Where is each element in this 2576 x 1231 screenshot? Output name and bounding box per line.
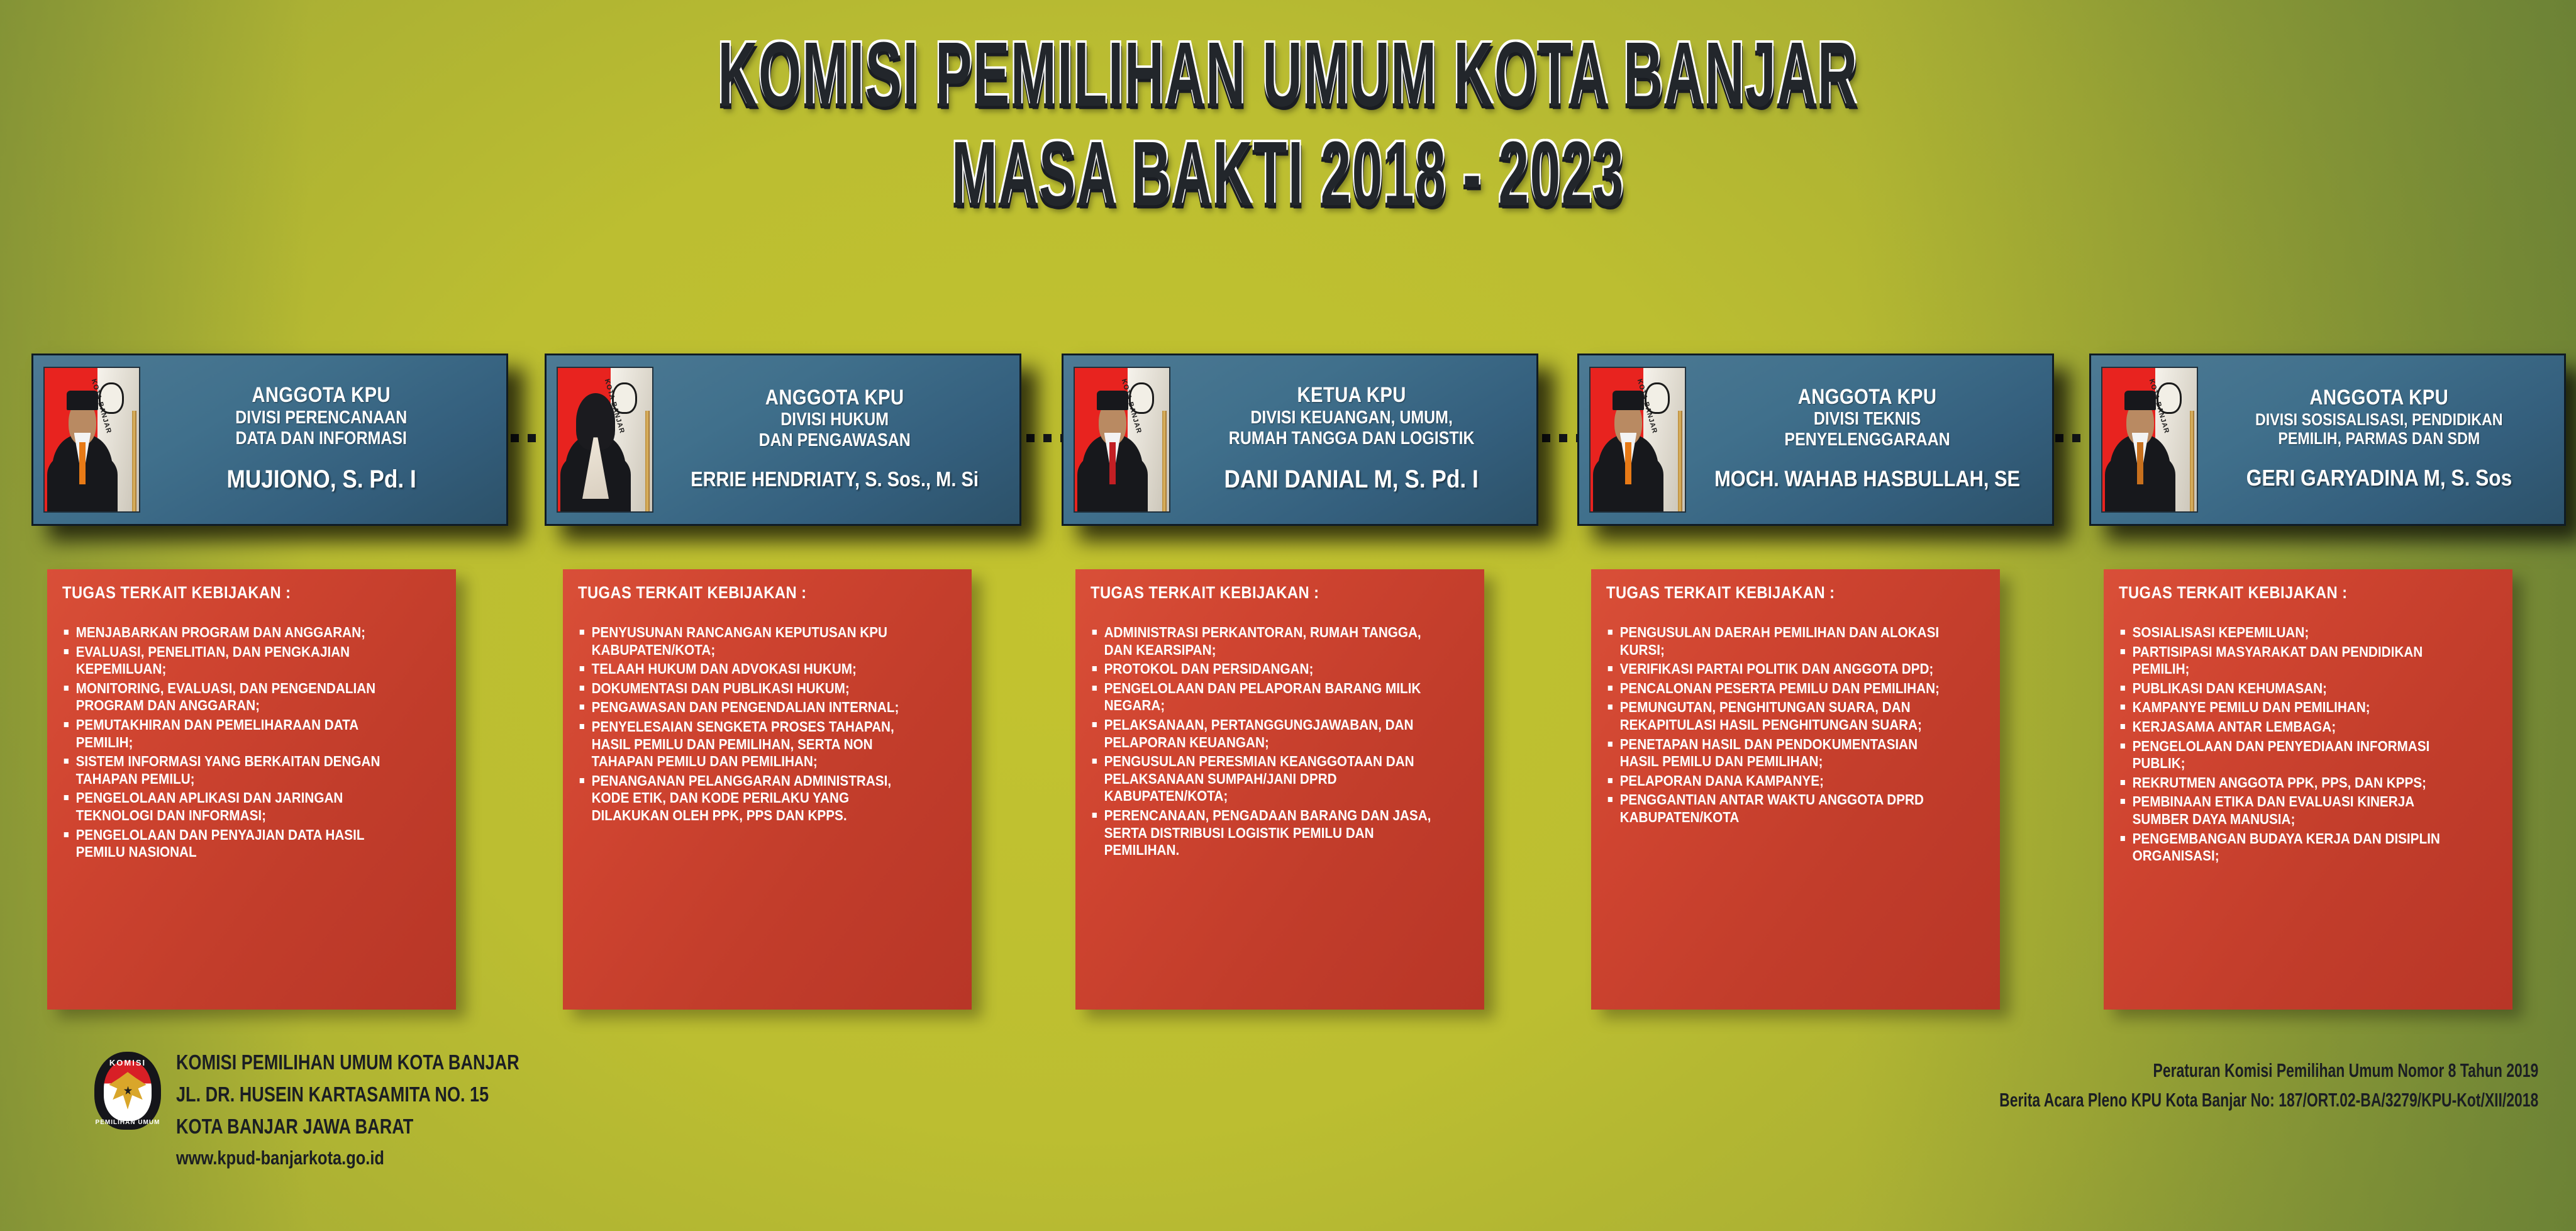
task-item: PENETAPAN HASIL DAN PENDOKUMENTASIAN HAS…	[1606, 736, 1949, 771]
member-photo: KOTA BANJAR	[2101, 367, 2198, 513]
task-item: PENANGANAN PELANGGARAN ADMINISTRASI, KOD…	[578, 772, 921, 825]
task-list: SOSIALISASI KEPEMILUAN; PARTISIPASI MASY…	[2119, 624, 2500, 865]
task-item: MONITORING, EVALUASI, DAN PENGENDALIAN P…	[62, 680, 405, 715]
task-item: SISTEM INFORMASI YANG BERKAITAN DENGAN T…	[62, 753, 405, 788]
footer-website-link[interactable]: www.kpud-banjarkota.go.id	[176, 1148, 519, 1167]
task-item: PENGEMBANGAN BUDAYA KERJA DAN DISIPLIN O…	[2119, 830, 2462, 865]
task-item: PENYUSUNAN RANCANGAN KEPUTUSAN KPU KABUP…	[578, 624, 921, 659]
footer-organization-block: KOMISI PEMILIHAN UMUM KOMISI PEMILIHAN U…	[94, 1052, 594, 1167]
task-item: PENGELOLAAN APLIKASI DAN JARINGAN TEKNOL…	[62, 789, 405, 824]
task-item: REKRUTMEN ANGGOTA PPK, PPS, DAN KPPS;	[2119, 774, 2462, 792]
task-item: TELAAH HUKUM DAN ADVOKASI HUKUM;	[578, 660, 921, 678]
member-card[interactable]: KOTA BANJAR KETUA KPU DIVISI KEUANGAN, U…	[1062, 354, 1538, 526]
task-item: PROTOKOL DAN PERSIDANGAN;	[1091, 660, 1433, 678]
task-item: ADMINISTRASI PERKANTORAN, RUMAH TANGGA, …	[1091, 624, 1433, 659]
task-box: TUGAS TERKAIT KEBIJAKAN : PENGUSULAN DAE…	[1591, 569, 2000, 1010]
task-item: KAMPANYE PEMILU DAN PEMILIHAN;	[2119, 699, 2462, 716]
member-name: DANI DANIAL M, S. Pd. I	[1224, 465, 1479, 494]
member-card[interactable]: KOTA BANJAR ANGGOTA KPU DIVISI TEKNIS PE…	[1577, 354, 2054, 526]
task-item: EVALUASI, PENELITIAN, DAN PENGKAJIAN KEP…	[62, 643, 405, 678]
member-name: MOCH. WAHAB HASBULLAH, SE	[1714, 467, 2020, 492]
task-item: PENCALONAN PESERTA PEMILU DAN PEMILIHAN;	[1606, 680, 1949, 698]
task-item: PENGUSULAN DAERAH PEMILIHAN DAN ALOKASI …	[1606, 624, 1949, 659]
member-name: ERRIE HENDRIATY, S. Sos., M. Si	[691, 467, 979, 491]
task-item: PARTISIPASI MASYARAKAT DAN PENDIDIKAN PE…	[2119, 643, 2462, 678]
task-list: PENYUSUNAN RANCANGAN KEPUTUSAN KPU KABUP…	[578, 624, 959, 825]
member-card[interactable]: KOTA BANJAR ANGGOTA KPU DIVISI SOSISALIS…	[2089, 354, 2566, 526]
page-subtitle: MASA BAKTI 2018 - 2023	[284, 128, 2293, 220]
task-box: TUGAS TERKAIT KEBIJAKAN : MENJABARKAN PR…	[47, 569, 456, 1010]
task-item: PENYELESAIAN SENGKETA PROSES TAHAPAN, HA…	[578, 718, 921, 771]
footer-address-line1: JL. DR. HUSEIN KARTASAMITA NO. 15	[176, 1084, 519, 1105]
member-card[interactable]: KOTA BANJAR ANGGOTA KPU DIVISI PERENCANA…	[31, 354, 508, 526]
task-box-title: TUGAS TERKAIT KEBIJAKAN :	[62, 583, 397, 603]
regulation-line-1: Peraturan Komisi Pemilihan Umum Nomor 8 …	[1999, 1061, 2538, 1081]
task-box: TUGAS TERKAIT KEBIJAKAN : SOSIALISASI KE…	[2104, 569, 2512, 1010]
task-item: PELAPORAN DANA KAMPANYE;	[1606, 772, 1949, 790]
task-item: PENGELOLAAN DAN PENYAJIAN DATA HASIL PEM…	[62, 827, 405, 861]
task-item: PENGELOLAAN DAN PENYEDIAAN INFORMASI PUB…	[2119, 738, 2462, 772]
footer-regulation-block: Peraturan Komisi Pemilihan Umum Nomor 8 …	[1810, 1061, 2538, 1119]
task-item: SOSIALISASI KEPEMILUAN;	[2119, 624, 2462, 642]
task-box-title: TUGAS TERKAIT KEBIJAKAN :	[1606, 583, 1941, 603]
member-role: ANGGOTA KPU DIVISI SOSISALISASI, PENDIDI…	[2255, 386, 2503, 448]
poster-title-block: KOMISI PEMILIHAN UMUM KOTA BANJAR MASA B…	[0, 29, 2576, 199]
logo-top-label: KOMISI	[94, 1058, 161, 1067]
kpu-logo-icon: KOMISI PEMILIHAN UMUM	[94, 1052, 161, 1130]
member-photo: KOTA BANJAR	[1074, 367, 1170, 513]
member-photo: KOTA BANJAR	[43, 367, 140, 513]
task-item: DOKUMENTASI DAN PUBLIKASI HUKUM;	[578, 680, 921, 698]
page-title: KOMISI PEMILIHAN UMUM KOTA BANJAR	[284, 29, 2293, 121]
task-item: PEMUNGUTAN, PENGHITUNGAN SUARA, DAN REKA…	[1606, 699, 1949, 733]
task-item: MENJABARKAN PROGRAM DAN ANGGARAN;	[62, 624, 405, 642]
task-item: PENGELOLAAN DAN PELAPORAN BARANG MILIK N…	[1091, 680, 1433, 715]
member-role: ANGGOTA KPU DIVISI TEKNIS PENYELENGGARAA…	[1784, 385, 1950, 451]
task-box-title: TUGAS TERKAIT KEBIJAKAN :	[2119, 583, 2454, 603]
task-box-title: TUGAS TERKAIT KEBIJAKAN :	[578, 583, 913, 603]
member-role: ANGGOTA KPU DIVISI PERENCANAAN DATA DAN …	[236, 383, 408, 449]
task-item: PELAKSANAAN, PERTANGGUNGJAWABAN, DAN PEL…	[1091, 716, 1433, 751]
task-item: PEMBINAAN ETIKA DAN EVALUASI KINERJA SUM…	[2119, 793, 2462, 828]
task-item: PENGGANTIAN ANTAR WAKTU ANGGOTA DPRD KAB…	[1606, 791, 1949, 826]
task-list: MENJABARKAN PROGRAM DAN ANGGARAN; EVALUA…	[62, 624, 443, 861]
logo-bottom-label: PEMILIHAN UMUM	[94, 1119, 161, 1126]
member-role: KETUA KPU DIVISI KEUANGAN, UMUM, RUMAH T…	[1229, 383, 1475, 449]
footer-org-name: KOMISI PEMILIHAN UMUM KOTA BANJAR	[176, 1052, 519, 1072]
task-item: PENGAWASAN DAN PENGENDALIAN INTERNAL;	[578, 699, 921, 716]
task-box-title: TUGAS TERKAIT KEBIJAKAN :	[1091, 583, 1426, 603]
task-box: TUGAS TERKAIT KEBIJAKAN : ADMINISTRASI P…	[1075, 569, 1484, 1010]
member-role: ANGGOTA KPU DIVISI HUKUM DAN PENGAWASAN	[758, 386, 910, 452]
member-card[interactable]: KOTA BANJAR ANGGOTA KPU DIVISI HUKUM DAN…	[545, 354, 1021, 526]
task-list: ADMINISTRASI PERKANTORAN, RUMAH TANGGA, …	[1091, 624, 1472, 859]
regulation-line-2: Berita Acara Pleno KPU Kota Banjar No: 1…	[1999, 1090, 2538, 1111]
task-item: PERENCANAAN, PENGADAAN BARANG DAN JASA, …	[1091, 807, 1433, 859]
member-name: GERI GARYADINA M, S. Sos	[2246, 465, 2512, 491]
task-item: PUBLIKASI DAN KEHUMASAN;	[2119, 680, 2462, 698]
task-list: PENGUSULAN DAERAH PEMILIHAN DAN ALOKASI …	[1606, 624, 1987, 827]
task-item: VERIFIKASI PARTAI POLITIK DAN ANGGOTA DP…	[1606, 660, 1949, 678]
member-photo: KOTA BANJAR	[557, 367, 653, 513]
task-item: PEMUTAKHIRAN DAN PEMELIHARAAN DATA PEMIL…	[62, 716, 405, 751]
member-name: MUJIONO, S. Pd. I	[226, 465, 416, 494]
poster-background: KOMISI PEMILIHAN UMUM KOTA BANJAR MASA B…	[0, 0, 2576, 1231]
task-item: KERJASAMA ANTAR LEMBAGA;	[2119, 718, 2462, 736]
member-photo: KOTA BANJAR	[1589, 367, 1686, 513]
footer-address-line2: KOTA BANJAR JAWA BARAT	[176, 1116, 519, 1137]
task-item: PENGUSULAN PERESMIAN KEANGGOTAAN DAN PEL…	[1091, 753, 1433, 805]
task-box: TUGAS TERKAIT KEBIJAKAN : PENYUSUNAN RAN…	[563, 569, 972, 1010]
